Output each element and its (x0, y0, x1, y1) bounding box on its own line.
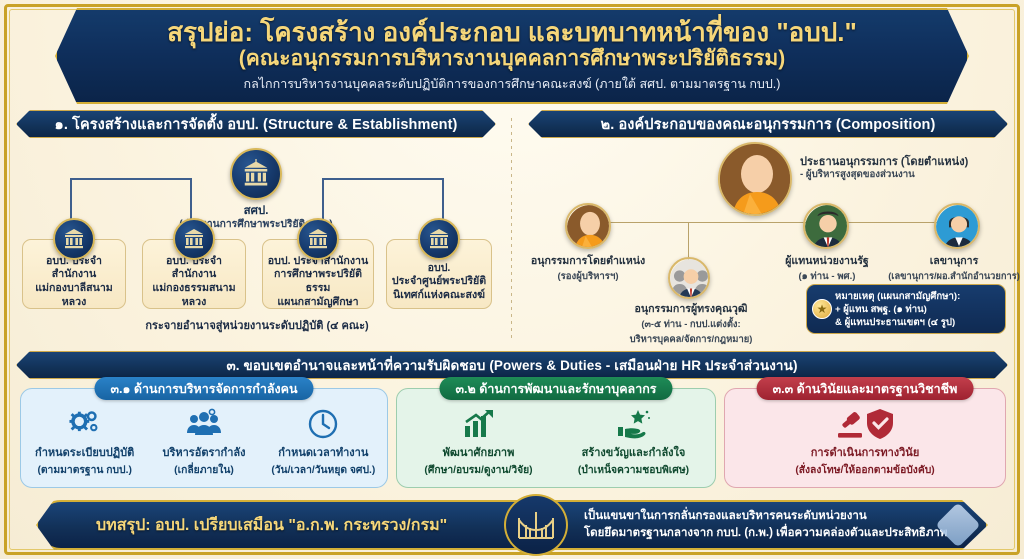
footer-badge (504, 494, 568, 556)
leaf-1-icon (53, 218, 95, 260)
member-avatar-3 (803, 203, 849, 249)
leaf-3-icon (297, 218, 339, 260)
people-group-icon (186, 407, 222, 441)
section3-banner: ๓. ขอบเขตอำนาจและหน้าที่ความรับผิดชอบ (P… (16, 351, 1008, 379)
connector (322, 178, 442, 180)
duty-panel-2-title: ๓.๒ ด้านการพัฒนาและรักษาบุคลากร (439, 377, 672, 400)
note-box: ★ หมายเหตุ (แผนกสามัญศึกษา): + ผู้แทน สพ… (806, 284, 1006, 334)
infographic-page: สรุปย่อ: โครงสร้าง องค์ประกอบ และบทบาทหน… (0, 0, 1024, 559)
duty-item: การดำเนินการทางวินัย (สั่งลงโทษ/ให้ออกตา… (729, 407, 1001, 483)
official-avatar (805, 205, 849, 249)
chair-avatar (718, 142, 792, 216)
page-subtitle: (คณะอนุกรรมการบริหารงานบุคคลการศึกษาพระป… (239, 47, 786, 72)
gears-icon (68, 407, 101, 441)
duty-item: สร้างขวัญและกำลังใจ (บำเหน็จความชอบพิเศษ… (556, 407, 711, 483)
growth-chart-icon (462, 407, 496, 441)
connector (754, 222, 959, 223)
bridge-icon (516, 508, 556, 542)
member-label-3: ผู้แทนหน่วยงานรัฐ (๑ ท่าน - พศ.) (762, 252, 892, 284)
duty-item: กำหนดเวลาทำงาน (วัน/เวลา/วันหยุด จศป.) (264, 407, 383, 483)
group-avatar (670, 259, 710, 299)
member-label-1: อนุกรรมการโดยตำแหน่ง (รองผู้บริหารฯ) (516, 252, 660, 284)
duty-panel-1-title: ๓.๑ ด้านการบริหารจัดการกำลังคน (94, 377, 313, 400)
section1-banner: ๑. โครงสร้างและการจัดตั้ง อบป. (Structur… (16, 110, 496, 138)
header: สรุปย่อ: โครงสร้าง องค์ประกอบ และบทบาทหน… (55, 8, 969, 104)
clock-icon (307, 407, 339, 441)
leaf-4-icon (418, 218, 460, 260)
chair-label: ประธานอนุกรรมการ (โดยตำแหน่ง) - ผู้บริหา… (800, 155, 1015, 182)
connector (688, 222, 689, 260)
connector (588, 222, 756, 223)
member-avatar-2 (668, 257, 710, 299)
page-title: สรุปย่อ: โครงสร้าง องค์ประกอบ และบทบาทหน… (167, 18, 857, 47)
footer-left-text: บทสรุป: อบป. เปรียบเสมือน "อ.ก.พ. กระทรว… (96, 500, 447, 550)
section2-banner: ๒. องค์ประกอบของคณะอนุกรรมการ (Compositi… (528, 110, 1008, 138)
member-avatar-1 (565, 203, 611, 249)
monk-avatar (567, 205, 611, 249)
duty-item: บริหารอัตรากำลัง (เกลี่ยภายใน) (144, 407, 263, 483)
member-avatar-4 (934, 203, 980, 249)
duty-item: กำหนดระเบียบปฏิบัติ (ตามมาตรฐาน กบป.) (25, 407, 144, 483)
star-icon: ★ (812, 299, 832, 319)
member-label-4: เลขานุการ (เลขานุการ/ผอ.สำนักอำนวยการ) (884, 252, 1024, 284)
duty-panel-3-title: ๓.๓ ด้านวินัยและมาตรฐานวิชาชีพ (757, 377, 974, 400)
leaf-2-icon (173, 218, 215, 260)
footer: บทสรุป: อบป. เปรียบเสมือน "อ.ก.พ. กระทรว… (36, 500, 988, 550)
gavel-shield-icon (834, 407, 896, 441)
secretary-avatar (936, 205, 980, 249)
duty-panel-3: ๓.๓ ด้านวินัยและมาตรฐานวิชาชีพ การดำเนิน… (724, 388, 1006, 488)
root-node-sublabel: (ส่วนงานการศึกษาพระปริยัติธรรม) (110, 215, 402, 232)
footer-right-text: เป็นแขนขาในการกลั่นกรองและบริหารคนระดับห… (584, 500, 947, 550)
connector (70, 178, 190, 180)
government-building-icon (241, 159, 271, 189)
hand-star-icon (616, 407, 652, 441)
duty-panel-2: ๓.๒ ด้านการพัฒนาและรักษาบุคลากร พัฒนาศัก… (396, 388, 716, 488)
section1-caption: กระจายอำนาจสู่หน่วยงานระดับปฏิบัติ (๔ คณ… (22, 316, 492, 334)
duty-panel-1: ๓.๑ ด้านการบริหารจัดการกำลังคน กำหนดระเบ… (20, 388, 388, 488)
root-node-icon (230, 148, 282, 200)
column-divider (511, 118, 512, 340)
duty-item: พัฒนาศักยภาพ (ศึกษา/อบรม/ดูงาน/วิจัย) (401, 407, 556, 483)
member-label-2: อนุกรรมการผู้ทรงคุณวุฒิ (๓-๕ ท่าน - กบป.… (600, 300, 782, 347)
monk-avatar (720, 144, 792, 216)
page-description: กลไกการบริหารงานบุคคลระดับปฏิบัติการของก… (244, 74, 781, 94)
